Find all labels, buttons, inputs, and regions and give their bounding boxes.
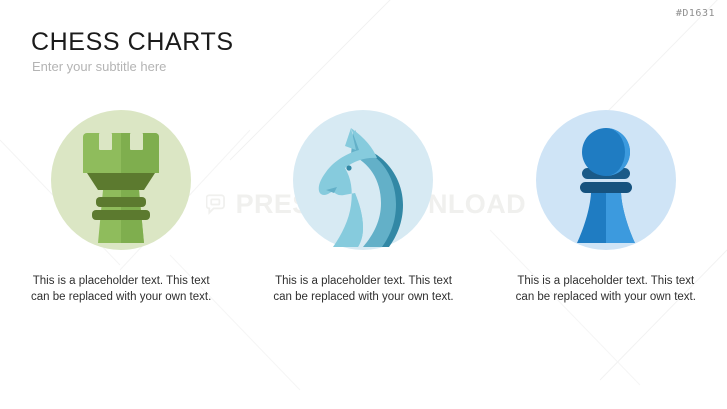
pawn-caption: This is a placeholder text. This text ca…	[508, 273, 704, 305]
page-title: CHESS CHARTS	[31, 28, 234, 57]
column-knight: This is a placeholder text. This text ca…	[242, 110, 484, 305]
knight-graphic[interactable]	[293, 110, 433, 250]
pawn-graphic[interactable]	[536, 110, 676, 250]
chess-knight-icon	[293, 110, 433, 250]
column-pawn: This is a placeholder text. This text ca…	[485, 110, 727, 305]
column-rook: This is a placeholder text. This text ca…	[0, 110, 242, 305]
chess-pawn-icon	[536, 110, 676, 250]
page-subtitle: Enter your subtitle here	[32, 59, 166, 74]
chess-rook-icon	[51, 110, 191, 250]
slide-code-label: #D1631	[676, 8, 715, 19]
knight-caption: This is a placeholder text. This text ca…	[265, 273, 461, 305]
rook-graphic[interactable]	[51, 110, 191, 250]
chess-columns: This is a placeholder text. This text ca…	[0, 110, 727, 305]
rook-caption: This is a placeholder text. This text ca…	[23, 273, 219, 305]
slide-canvas: #D1631 CHESS CHARTS Enter your subtitle …	[0, 0, 727, 409]
